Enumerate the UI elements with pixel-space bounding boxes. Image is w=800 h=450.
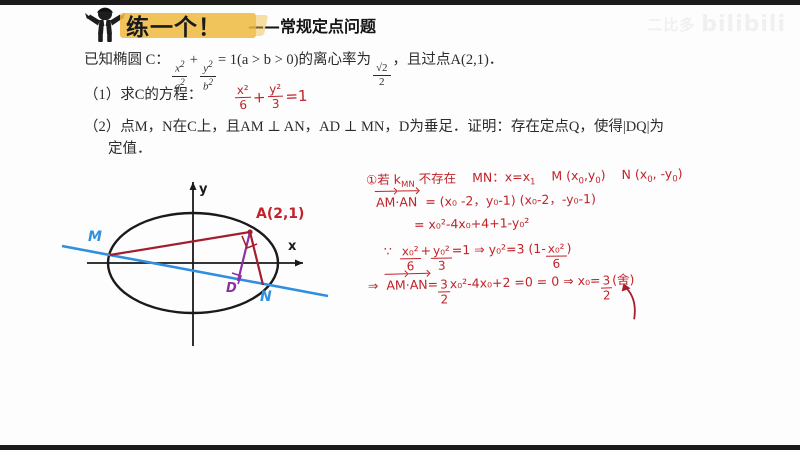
frac-x0sq-6: x₀²6 <box>400 245 421 272</box>
frac-3-2-b: 32 <box>600 274 612 301</box>
letterbox-bottom-bar <box>0 445 800 450</box>
frac-3-2: 32 <box>438 278 450 305</box>
answer-fraction-y2-3: y² 3 <box>267 83 284 111</box>
problem-line-1-tail: ，且过点A(2,1)． <box>393 52 504 68</box>
plus-sign-1: + <box>190 52 198 68</box>
badge-highlight: 练一个！ <box>126 7 222 43</box>
ellipse-condition: = 1(a > b > 0)的离心率为 <box>218 52 371 68</box>
watermark-text: 二比多 <box>647 14 695 35</box>
label-point-d: D <box>226 281 237 296</box>
badge-label: 练一个！ <box>126 8 222 42</box>
solution-line-1: ①若 kMN 不存在MN：x=x1M (x0,y0)N (x0, -y0) <box>366 163 683 191</box>
frac-x0sq-6-b: x₀²6 <box>546 242 567 269</box>
bilibili-watermark: 二比多 bilibili <box>647 12 786 37</box>
vector-an-2: AN <box>410 277 428 292</box>
solution-line-5: ⇒AM·AN=32x₀²-4x₀+2 =0 = 0 ⇒ x₀=32(舍) <box>368 269 635 308</box>
solution-line-4: ∵x₀²6+y₀²3=1 ⇒ y₀²=3 (1-x₀²6) <box>384 240 572 272</box>
problem-part-2-cont: 定值． <box>108 139 152 160</box>
vector-am-1: AM <box>376 195 396 210</box>
problem-part-2: （2）点M，N在C上，且AM ⊥ AN，AD ⊥ MN，D为垂足．证明：存在定点… <box>84 117 664 138</box>
point-a-dot <box>247 229 252 234</box>
chord-an <box>250 232 263 285</box>
answer-equals-one: =1 <box>285 86 308 105</box>
vector-an-1: AN <box>399 194 417 209</box>
problem-statement: 已知椭圆 C：x2a2+y2b2= 1(a > b > 0)的离心率为√22，且… <box>84 50 774 93</box>
problem-part-1: （1）求C的方程： <box>84 85 202 106</box>
solution-line-3: = x₀²-4x₀+4+1-y₀² <box>414 215 530 232</box>
handwritten-answer-part1: x² 6 + y² 3 =1 <box>235 82 308 112</box>
problem-line-1-prefix: 已知椭圆 C： <box>84 52 170 68</box>
label-point-m: M <box>88 229 102 245</box>
ellipse-diagram: A(2,1) M N D x y <box>60 168 370 353</box>
slide-header: 练一个！ ——常规定点问题 <box>82 6 376 44</box>
letterbox-top-bar <box>0 0 800 5</box>
chord-am <box>110 232 250 255</box>
vector-am-2: AM <box>386 277 406 292</box>
video-frame: 练一个！ ——常规定点问题 二比多 bilibili 已知椭圆 C：x2a2+y… <box>0 0 800 450</box>
label-point-n: N <box>260 289 272 305</box>
frac-y0sq-3: y₀²3 <box>431 244 452 271</box>
label-point-a: A(2,1) <box>256 206 304 222</box>
label-axis-x: x <box>288 239 297 254</box>
fraction-eccentricity: √22 <box>373 63 391 88</box>
label-axis-y: y <box>199 182 208 197</box>
solution-line-2: AM·AN= (x₀ -2，y₀-1) (x₀-2，-y₀-1) <box>376 188 596 211</box>
bilibili-logo-icon: bilibili <box>701 12 786 37</box>
answer-plus: + <box>253 88 266 106</box>
answer-fraction-x2-6: x² 6 <box>235 84 252 112</box>
